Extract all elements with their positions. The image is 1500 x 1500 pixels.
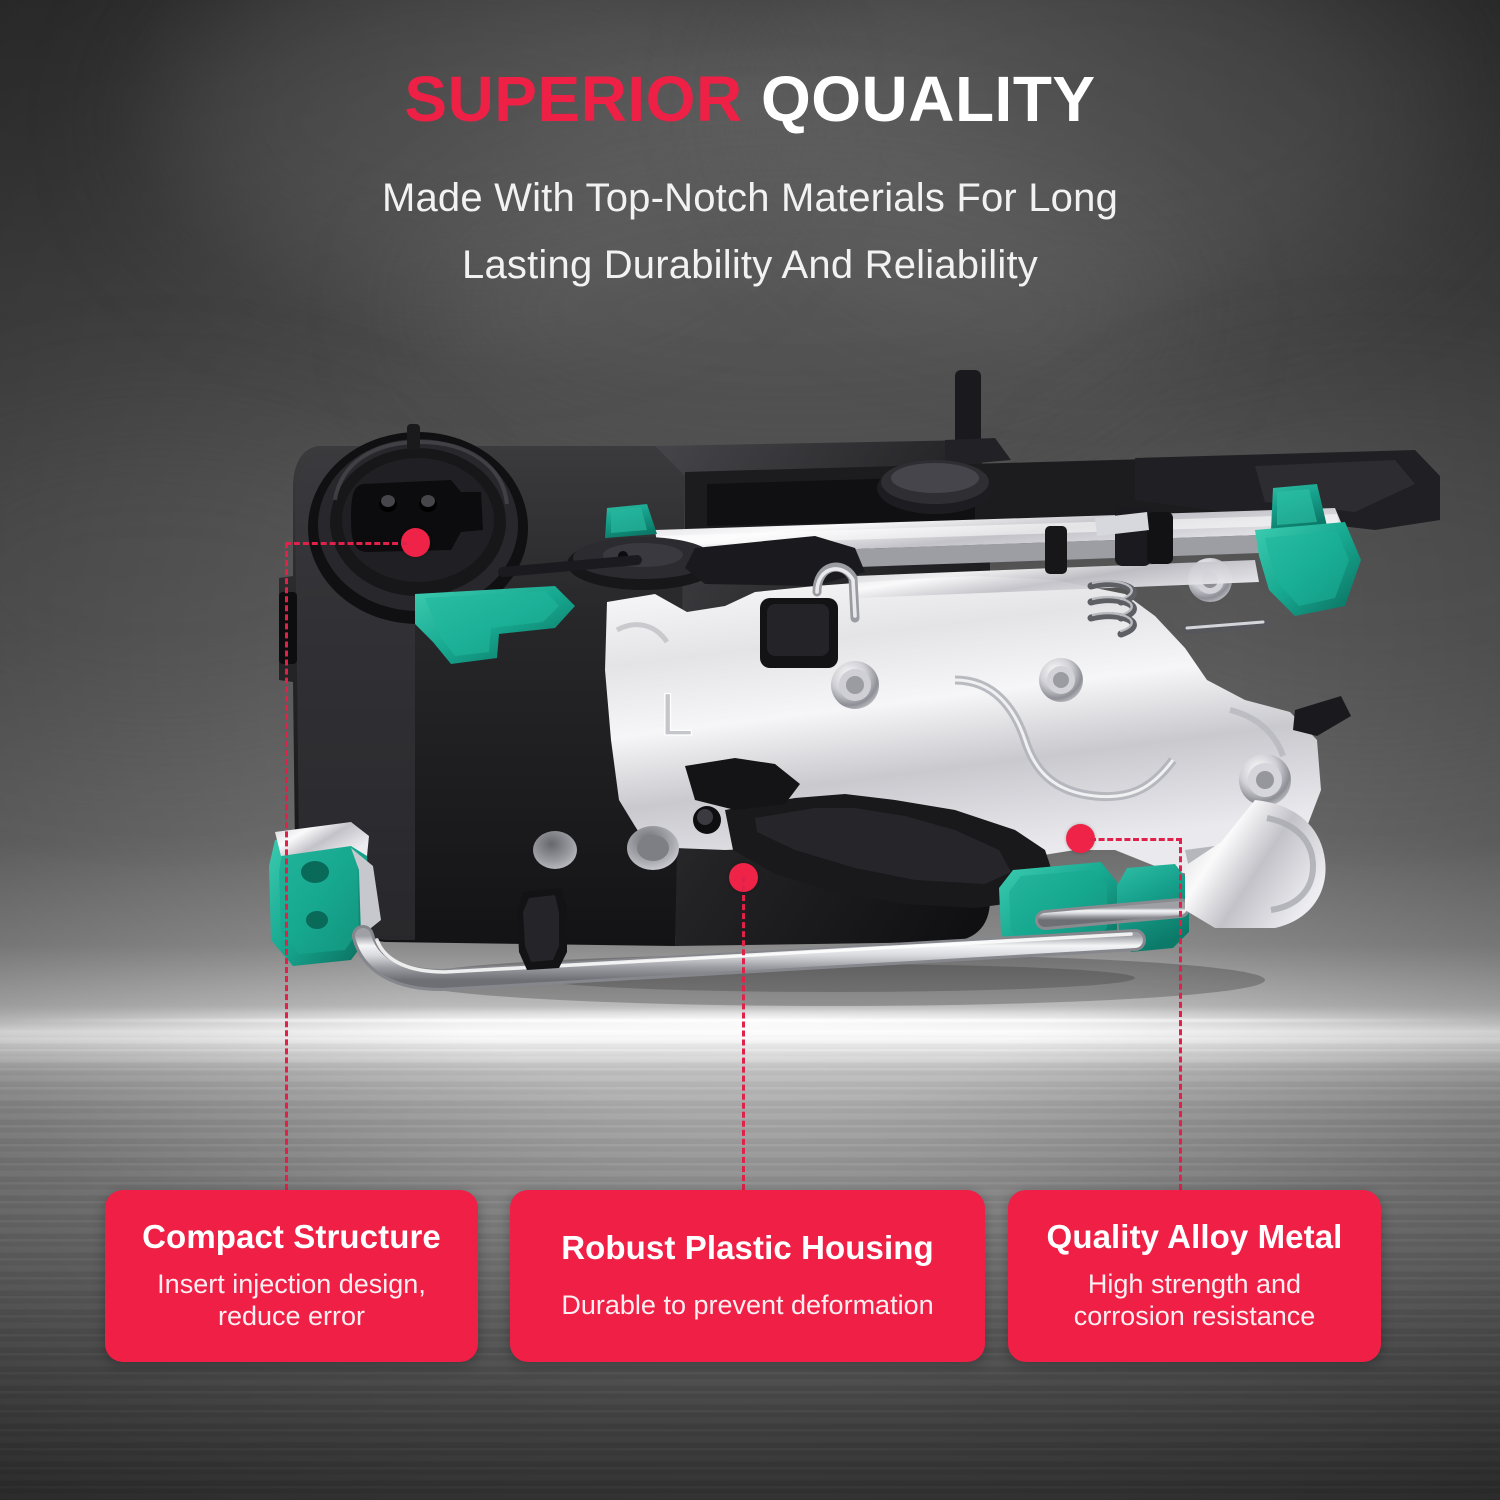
- feature-card-robust-plastic-housing[interactable]: Robust Plastic Housing Durable to preven…: [510, 1190, 985, 1362]
- feature-card-description: Durable to prevent deformation: [561, 1289, 933, 1322]
- feature-card-quality-alloy-metal[interactable]: Quality Alloy Metal High strength and co…: [1008, 1190, 1381, 1362]
- horizon-glow: [0, 1010, 1500, 1036]
- subtitle-line-2: Lasting Durability And Reliability: [0, 245, 1500, 285]
- feature-card-title: Robust Plastic Housing: [561, 1230, 934, 1267]
- callout-leader-3-vertical: [1179, 838, 1182, 1190]
- page-title: SUPERIOR QOUALITY: [0, 66, 1500, 133]
- product-side-marking: L: [660, 681, 695, 748]
- feature-card-title: Quality Alloy Metal: [1047, 1219, 1343, 1256]
- product-image-door-lock-actuator: L: [255, 380, 1405, 1000]
- feature-card-description: High strength and corrosion resistance: [1074, 1268, 1316, 1334]
- callout-leader-1-vertical: [285, 542, 288, 1190]
- headline-main-text: QOUALITY: [761, 63, 1096, 135]
- feature-card-title: Compact Structure: [142, 1219, 441, 1256]
- callout-leader-3-horizontal: [1090, 838, 1182, 841]
- feature-card-compact-structure[interactable]: Compact Structure Insert injection desig…: [105, 1190, 478, 1362]
- feature-card-description: Insert injection design, reduce error: [157, 1268, 426, 1334]
- subtitle-line-1: Made With Top-Notch Materials For Long: [0, 178, 1500, 218]
- horizon-line: [0, 1019, 1500, 1022]
- callout-leader-1-horizontal: [285, 542, 407, 545]
- headline-accent-text: SUPERIOR: [404, 63, 742, 135]
- promo-banner: SUPERIOR QOUALITY Made With Top-Notch Ma…: [0, 0, 1500, 1500]
- callout-leader-2-vertical: [742, 877, 745, 1190]
